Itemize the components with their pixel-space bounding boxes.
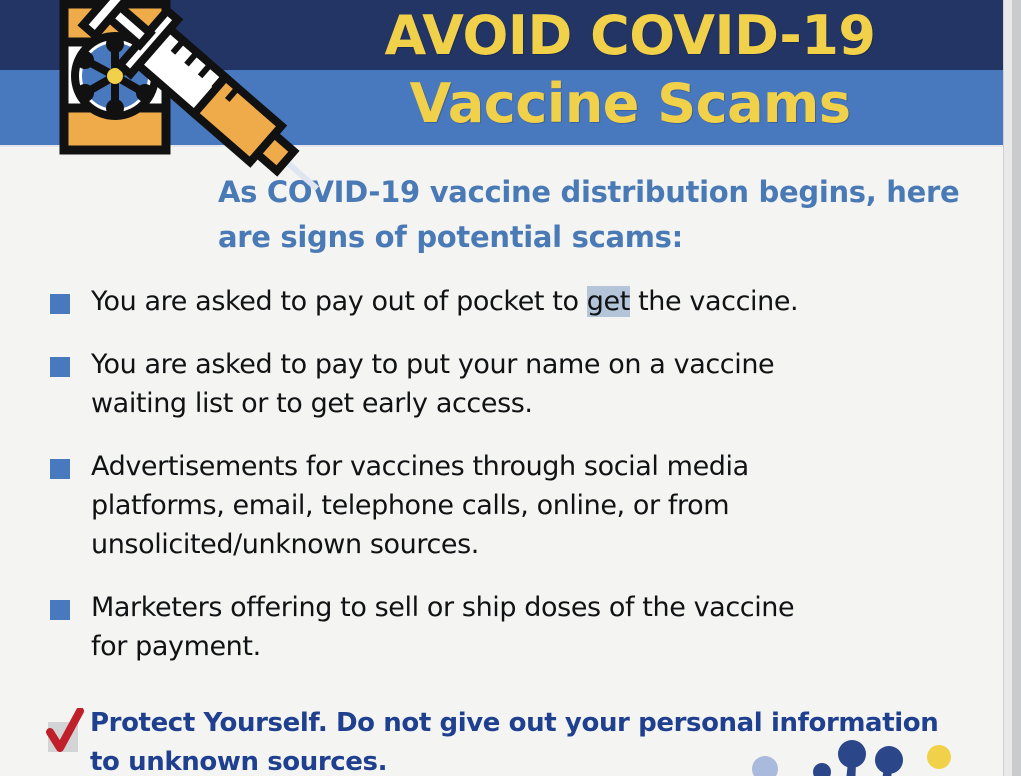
list-item-label: Marketers offering to sell or ship doses… <box>91 588 794 666</box>
infographic-slide: AVOID COVID-19 Vaccine Scams <box>0 0 1012 776</box>
text-selection-highlight[interactable]: get <box>587 286 630 317</box>
list-item-label: You are asked to pay out of pocket to ge… <box>91 282 798 321</box>
list-item: Marketers offering to sell or ship doses… <box>50 588 980 666</box>
bullet-1-text-after: the vaccine. <box>630 286 798 317</box>
bullet-square-icon <box>50 357 70 377</box>
protect-yourself-text: Protect Yourself. Do not give out your p… <box>90 698 938 776</box>
bullet-square-icon <box>50 600 70 620</box>
bullet-square-icon <box>50 294 70 314</box>
scam-signs-list: You are asked to pay out of pocket to ge… <box>50 282 980 690</box>
list-item: You are asked to pay to put your name on… <box>50 345 980 423</box>
checkmark-icon <box>46 712 80 746</box>
list-item-label: Advertisements for vaccines through soci… <box>91 447 749 564</box>
bullet-square-icon <box>50 459 70 479</box>
list-item-label: You are asked to pay to put your name on… <box>91 345 774 423</box>
slide-right-gutter <box>1003 0 1012 776</box>
bullet-1-text-before: You are asked to pay out of pocket to <box>91 286 587 317</box>
vaccine-bottle-syringe-illustration <box>52 0 342 226</box>
list-item: You are asked to pay out of pocket to ge… <box>50 282 980 321</box>
list-item: Advertisements for vaccines through soci… <box>50 447 980 564</box>
protect-yourself-callout: Protect Yourself. Do not give out your p… <box>46 698 986 776</box>
